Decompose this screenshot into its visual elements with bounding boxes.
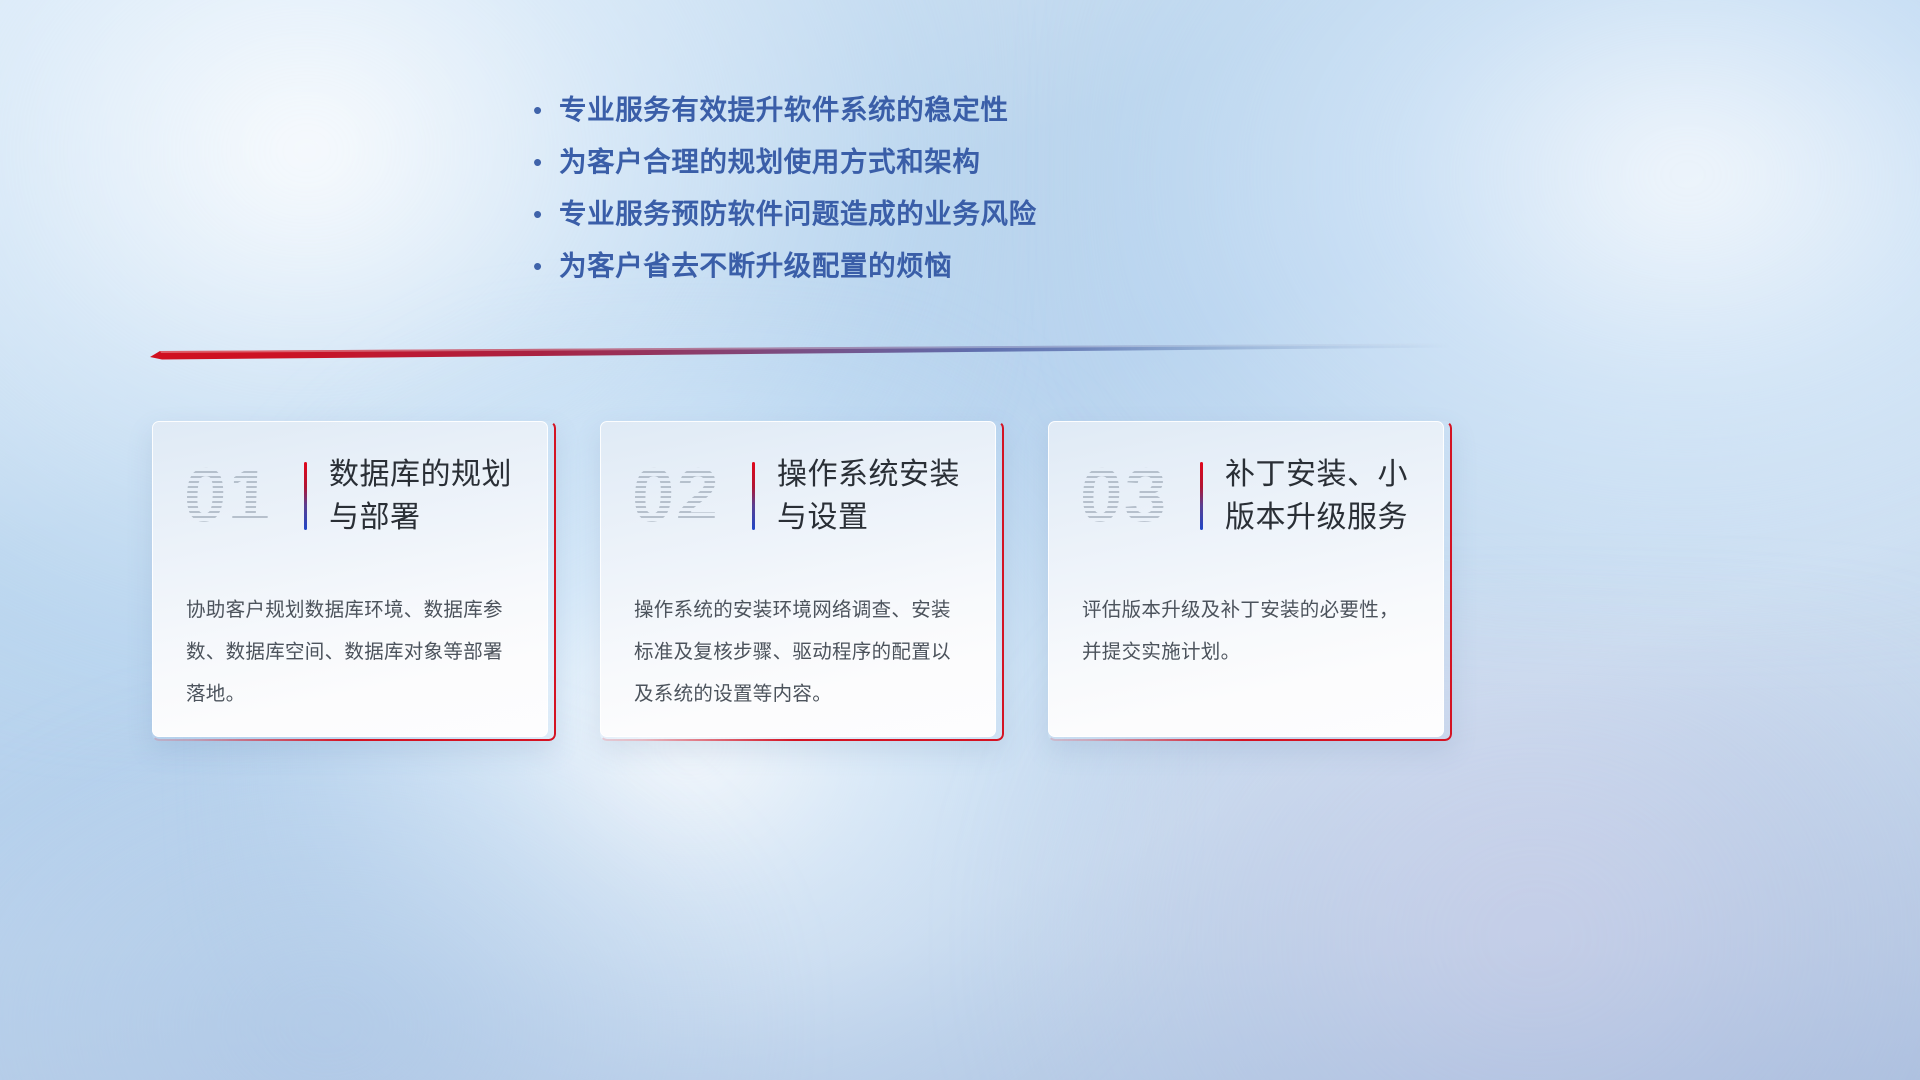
card-number: 02 [600,421,752,571]
card-title: 补丁安装、小 版本升级服务 [1203,453,1444,539]
card-body-text: 协助客户规划数据库环境、数据库参数、数据库空间、数据库对象等部署落地。 [186,589,520,715]
card-title-line-2: 版本升级服务 [1225,496,1430,539]
bullet-dot-icon: • [533,88,559,132]
card-surface: 01 01 数据库的规划 与部署 协助客户规划数据库环境、数据库参数、数据库空间… [152,421,548,737]
card-title-line-1: 补丁安装、小 [1225,453,1430,496]
bullet-dot-icon: • [533,192,559,236]
card-title-line-2: 与设置 [777,496,982,539]
card-title-line-1: 数据库的规划 [329,453,534,496]
card-body-text: 评估版本升级及补丁安装的必要性，并提交实施计划。 [1082,589,1416,673]
card-header: 02 02 操作系统安装 与设置 [600,421,996,571]
card-surface: 02 02 操作系统安装 与设置 操作系统的安装环境网络调查、安装标准及复核步骤… [600,421,996,737]
card-title: 数据库的规划 与部署 [307,453,548,539]
bullet-dot-icon: • [533,244,559,288]
section-divider [150,336,1450,362]
card-header: 03 03 补丁安装、小 版本升级服务 [1048,421,1444,571]
card-number: 01 [152,421,304,571]
card-title: 操作系统安装 与设置 [755,453,996,539]
bullet-text: 专业服务有效提升软件系统的稳定性 [559,88,1009,132]
bullet-text: 为客户合理的规划使用方式和架构 [559,140,981,184]
card-number-text: 03 [1077,421,1171,571]
card-surface: 03 03 补丁安装、小 版本升级服务 评估版本升级及补丁安装的必要性，并提交实… [1048,421,1444,737]
list-item: • 专业服务有效提升软件系统的稳定性 [533,88,1433,140]
card-header: 01 01 数据库的规划 与部署 [152,421,548,571]
bullet-text: 为客户省去不断升级配置的烦恼 [559,244,952,288]
service-card-01[interactable]: 01 01 数据库的规划 与部署 协助客户规划数据库环境、数据库参数、数据库空间… [152,421,556,741]
list-item: • 为客户省去不断升级配置的烦恼 [533,244,1433,296]
service-card-03[interactable]: 03 03 补丁安装、小 版本升级服务 评估版本升级及补丁安装的必要性，并提交实… [1048,421,1452,741]
list-item: • 专业服务预防软件问题造成的业务风险 [533,192,1433,244]
divider-shape [150,336,1450,362]
bullet-dot-icon: • [533,140,559,184]
slide-canvas: • 专业服务有效提升软件系统的稳定性 • 为客户合理的规划使用方式和架构 • 专… [0,0,1920,1080]
card-title-line-2: 与部署 [329,496,534,539]
card-number-text: 01 [181,421,275,571]
bullet-list: • 专业服务有效提升软件系统的稳定性 • 为客户合理的规划使用方式和架构 • 专… [533,88,1433,296]
service-card-02[interactable]: 02 02 操作系统安装 与设置 操作系统的安装环境网络调查、安装标准及复核步骤… [600,421,1004,741]
bullet-text: 专业服务预防软件问题造成的业务风险 [559,192,1037,236]
card-number-text: 02 [629,421,723,571]
card-row: 01 01 数据库的规划 与部署 协助客户规划数据库环境、数据库参数、数据库空间… [152,421,1452,741]
card-body-text: 操作系统的安装环境网络调查、安装标准及复核步骤、驱动程序的配置以及系统的设置等内… [634,589,968,715]
list-item: • 为客户合理的规划使用方式和架构 [533,140,1433,192]
card-number: 03 [1048,421,1200,571]
card-title-line-1: 操作系统安装 [777,453,982,496]
